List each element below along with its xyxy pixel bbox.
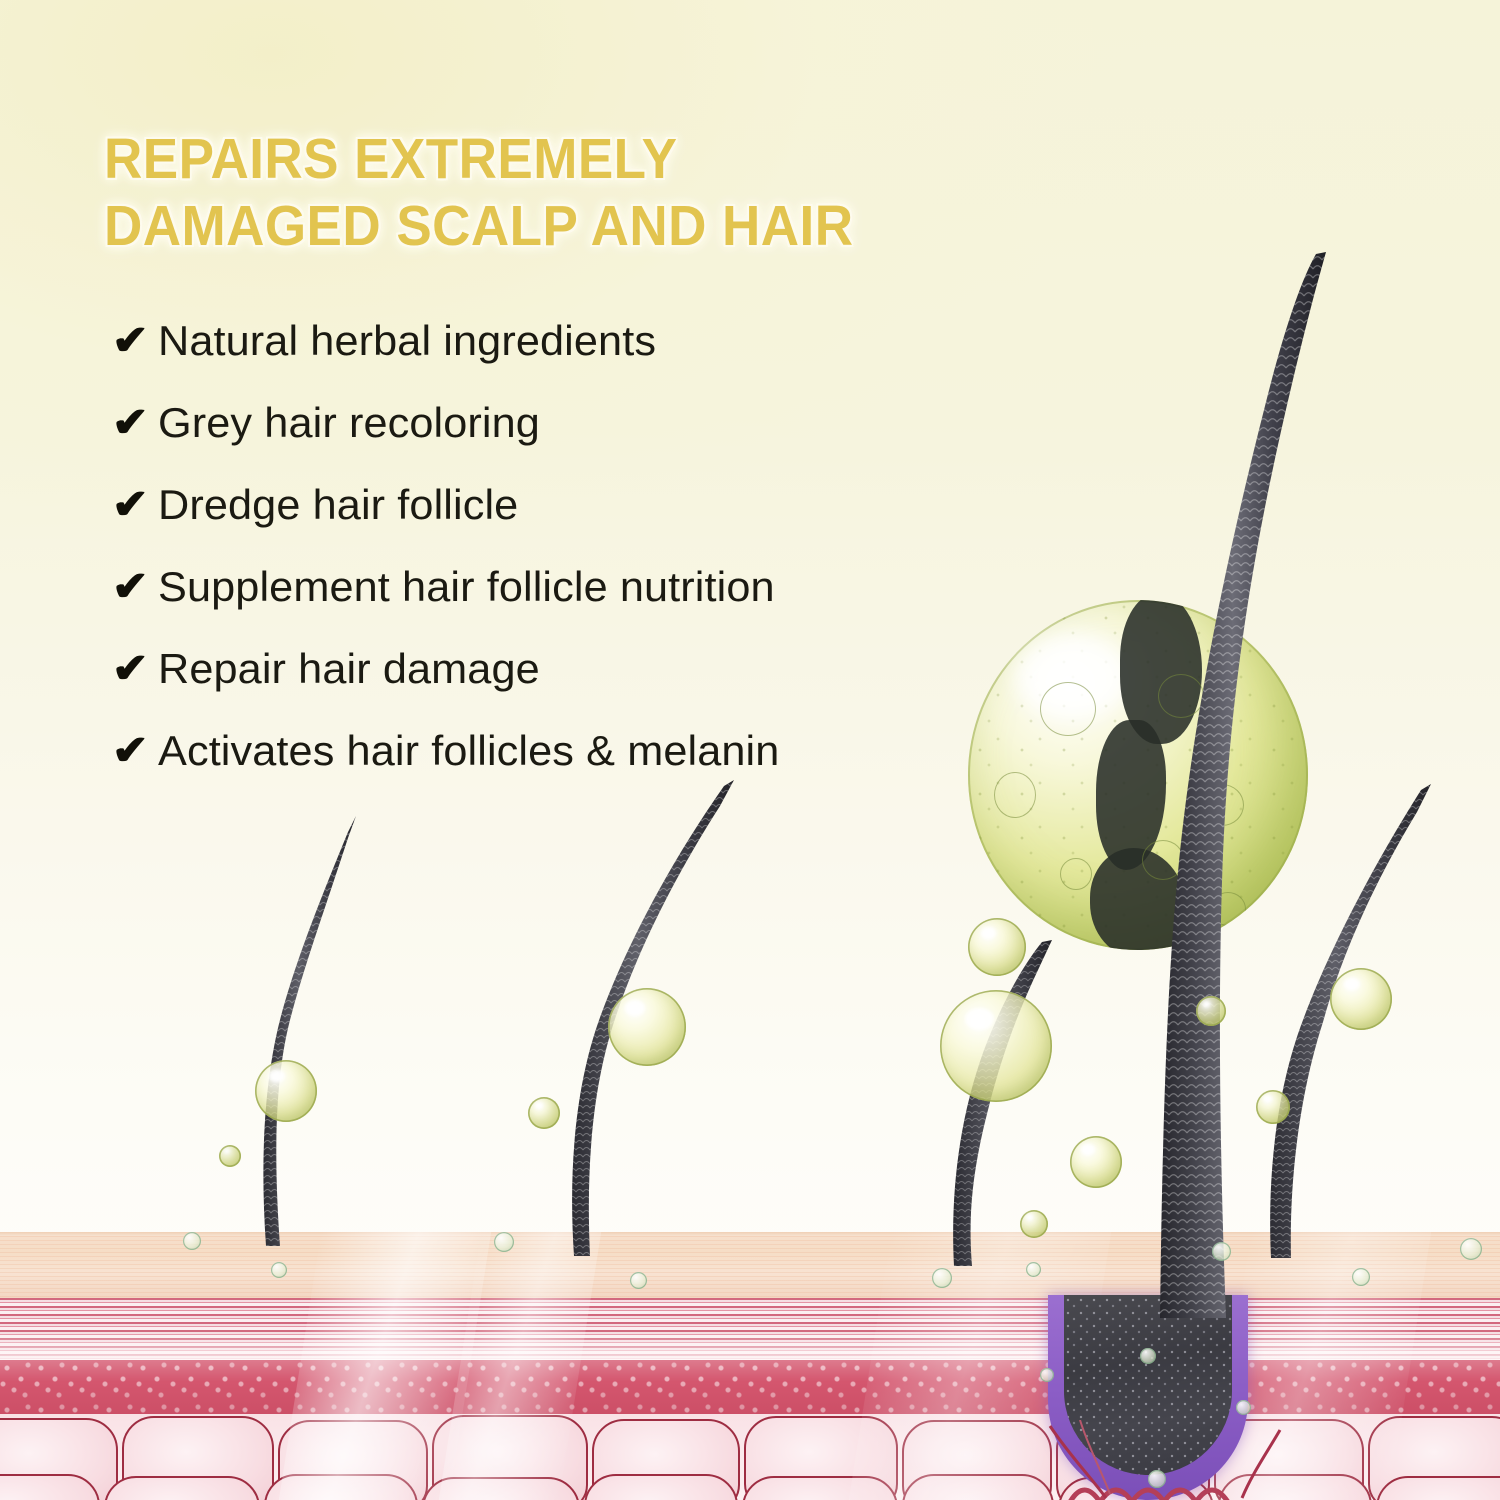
fat-cell	[104, 1476, 260, 1500]
serum-microbubble	[183, 1232, 201, 1250]
serum-inner-bubble	[994, 772, 1036, 818]
serum-bubble	[1070, 1136, 1122, 1188]
list-item: ✔ Natural herbal ingredients	[112, 300, 992, 382]
fat-cell	[1376, 1476, 1500, 1500]
serum-bubble	[968, 918, 1026, 976]
list-item-label: Dredge hair follicle	[158, 482, 518, 528]
serum-bubble	[608, 988, 686, 1066]
serum-bubble	[940, 990, 1052, 1102]
serum-microbubble	[1460, 1238, 1482, 1260]
hero-hair-shaft	[1160, 252, 1390, 1322]
check-icon: ✔	[112, 566, 158, 609]
check-icon: ✔	[112, 402, 158, 445]
serum-bubble	[219, 1145, 241, 1167]
serum-bubble	[1020, 1210, 1048, 1238]
list-item-label: Activates hair follicles & melanin	[158, 728, 779, 774]
check-icon: ✔	[112, 730, 158, 773]
serum-bubble	[255, 1060, 317, 1122]
serum-inner-bubble	[1060, 858, 1092, 890]
list-item: ✔ Repair hair damage	[112, 628, 992, 710]
fat-cell	[584, 1474, 738, 1500]
list-item-label: Repair hair damage	[158, 646, 540, 692]
check-icon: ✔	[112, 648, 158, 691]
serum-microbubble	[932, 1268, 952, 1288]
list-item: ✔ Supplement hair follicle nutrition	[112, 546, 992, 628]
fat-cell	[0, 1474, 100, 1500]
list-item: ✔ Dredge hair follicle	[112, 464, 992, 546]
check-icon: ✔	[112, 484, 158, 527]
hair-shaft-behind-sphere	[930, 940, 1100, 1270]
serum-microbubble	[1140, 1348, 1156, 1364]
capillary-vessels	[960, 1420, 1380, 1500]
serum-microbubble	[1040, 1368, 1054, 1382]
serum-bubble	[1256, 1090, 1290, 1124]
serum-microbubble	[494, 1232, 514, 1252]
serum-microbubble	[271, 1262, 287, 1278]
page-title: REPAIRS EXTREMELY DAMAGED SCALP AND HAIR	[104, 126, 941, 260]
serum-inner-bubble	[1040, 682, 1096, 736]
list-item: ✔ Grey hair recoloring	[112, 382, 992, 464]
list-item-label: Supplement hair follicle nutrition	[158, 564, 775, 610]
serum-microbubble	[1026, 1262, 1041, 1277]
list-item-label: Natural herbal ingredients	[158, 318, 656, 364]
feature-bullet-list: ✔ Natural herbal ingredients ✔ Grey hair…	[112, 300, 992, 792]
list-item-label: Grey hair recoloring	[158, 400, 540, 446]
hair-shaft-left	[180, 780, 400, 1250]
serum-bubble	[1196, 996, 1226, 1026]
serum-microbubble	[1148, 1470, 1166, 1488]
serum-microbubble	[1212, 1242, 1231, 1261]
product-feature-panel: REPAIRS EXTREMELY DAMAGED SCALP AND HAIR…	[0, 0, 1500, 1500]
serum-microbubble	[1236, 1400, 1251, 1415]
serum-bubble	[528, 1097, 560, 1129]
serum-microbubble	[630, 1272, 647, 1289]
check-icon: ✔	[112, 320, 158, 363]
